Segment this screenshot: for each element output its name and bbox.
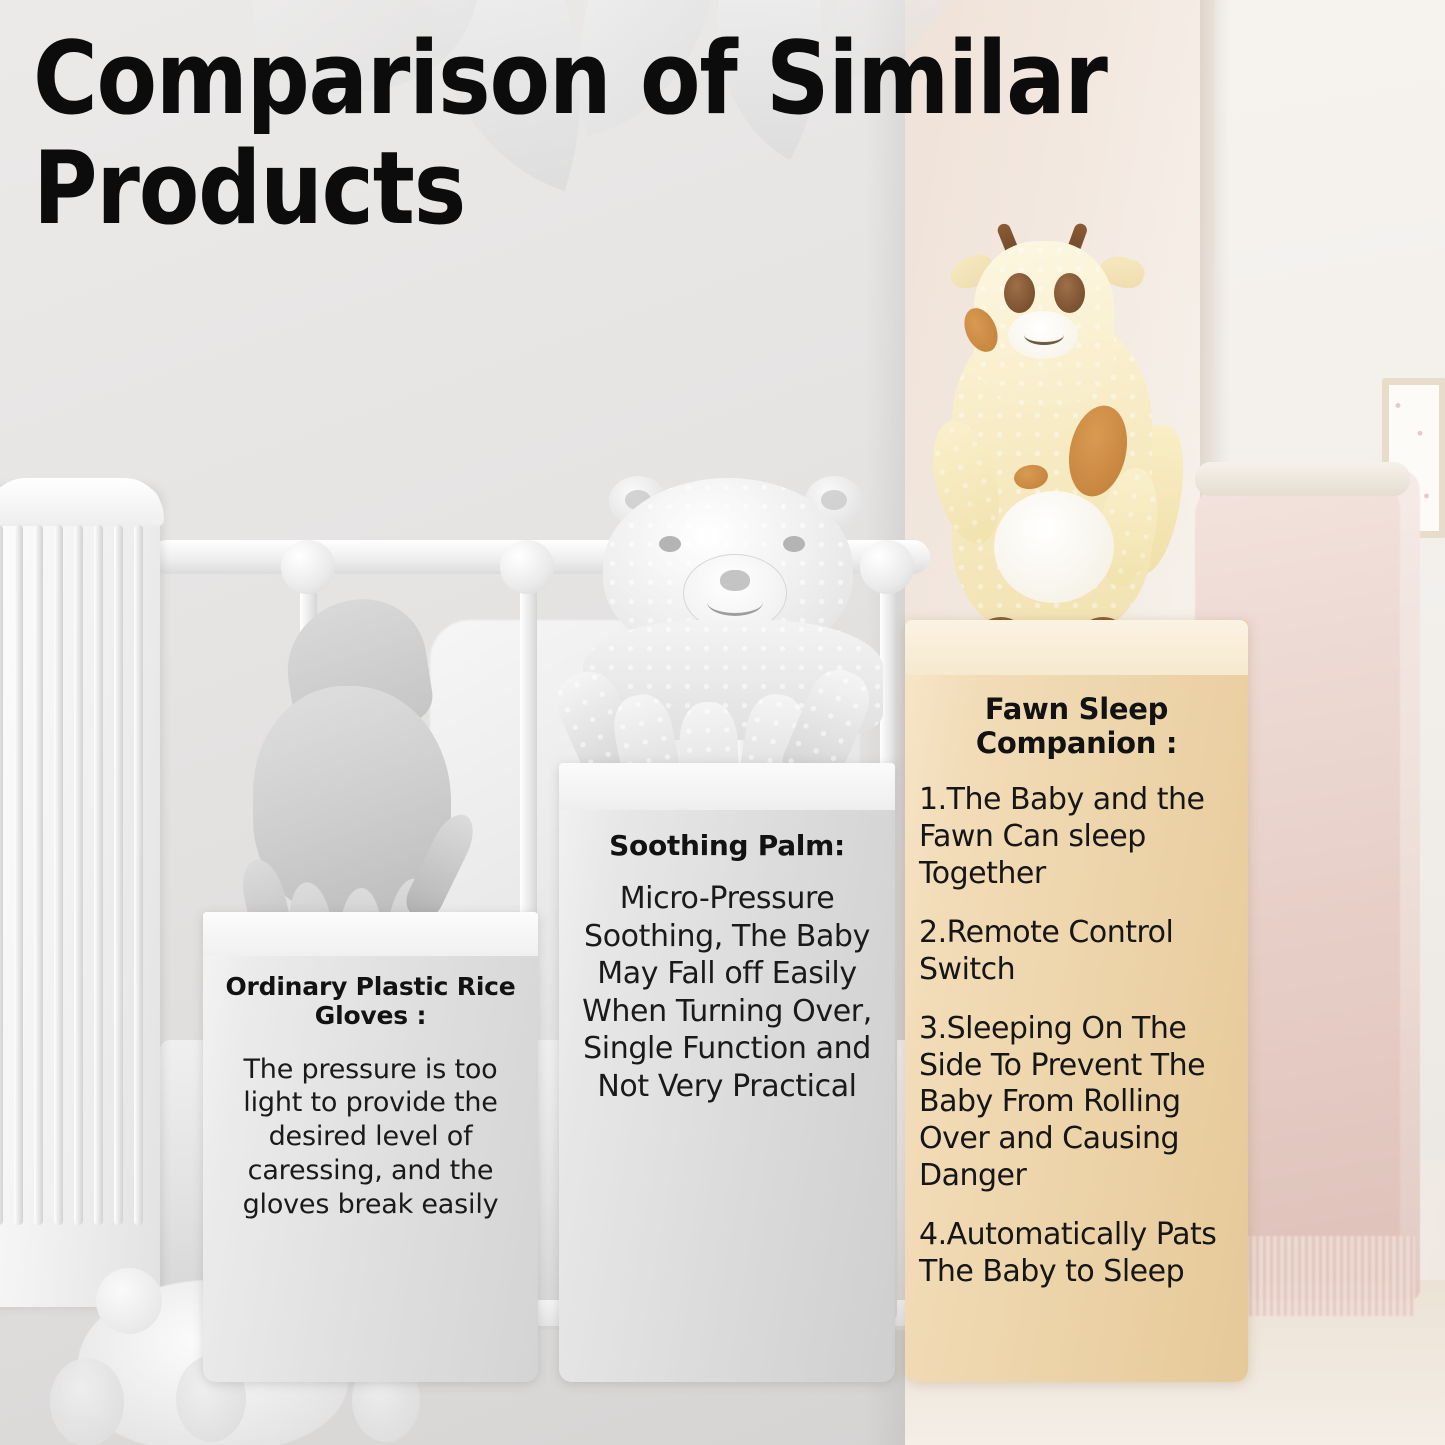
crib-headboard-cap	[0, 478, 164, 526]
crib-knob	[500, 540, 554, 594]
card1-top-band	[203, 912, 538, 956]
white-plush-toy-ear	[96, 1268, 162, 1334]
card3-feature-item: 1.The Baby and the Fawn Can sleep Togeth…	[919, 782, 1234, 893]
card2-body: Micro-Pressure Soothing, The Baby May Fa…	[573, 880, 881, 1105]
pedestal-foot	[50, 1358, 124, 1445]
fawn-eye	[1004, 273, 1035, 313]
soothing-palm-product	[575, 470, 895, 800]
card1-heading: Ordinary Plastic Rice Gloves :	[217, 972, 524, 1031]
card3-feature-item: 3.Sleeping On The Side To Prevent The Ba…	[919, 1011, 1234, 1195]
card3-heading: Fawn Sleep Companion :	[919, 693, 1234, 760]
bear-smile	[707, 588, 763, 616]
crib-knob	[281, 540, 335, 594]
card3-panel: Fawn Sleep Companion : 1.The Baby and th…	[905, 675, 1248, 1382]
card1-panel: Ordinary Plastic Rice Gloves : The press…	[203, 956, 538, 1382]
card3-feature-item: 4.Automatically Pats The Baby to Sleep	[919, 1217, 1234, 1291]
crib-slats	[0, 525, 158, 1225]
bear-eye	[783, 536, 805, 552]
fawn-belly	[994, 491, 1114, 603]
product-card-soothing-palm[interactable]: Soothing Palm: Micro-Pressure Soothing, …	[559, 763, 895, 1382]
fawn-sleep-companion-product	[930, 215, 1230, 655]
card3-feature-item: 2.Remote Control Switch	[919, 915, 1234, 989]
card1-body: The pressure is too light to provide the…	[217, 1053, 524, 1222]
product-card-fawn-sleep-companion[interactable]: Fawn Sleep Companion : 1.The Baby and th…	[905, 620, 1248, 1382]
page-title: Comparison of Similar Products	[33, 23, 1352, 243]
product-card-ordinary-plastic-rice-gloves[interactable]: Ordinary Plastic Rice Gloves : The press…	[203, 912, 538, 1382]
bear-eye	[659, 536, 681, 552]
card2-panel: Soothing Palm: Micro-Pressure Soothing, …	[559, 810, 895, 1382]
fawn-smile	[1024, 325, 1064, 345]
card2-top-band	[559, 763, 895, 810]
card2-heading: Soothing Palm:	[609, 830, 845, 862]
infographic-canvas: Comparison of Similar Products Ordinary …	[0, 0, 1445, 1445]
fawn-eye	[1054, 273, 1085, 313]
card3-top-band	[905, 620, 1248, 675]
